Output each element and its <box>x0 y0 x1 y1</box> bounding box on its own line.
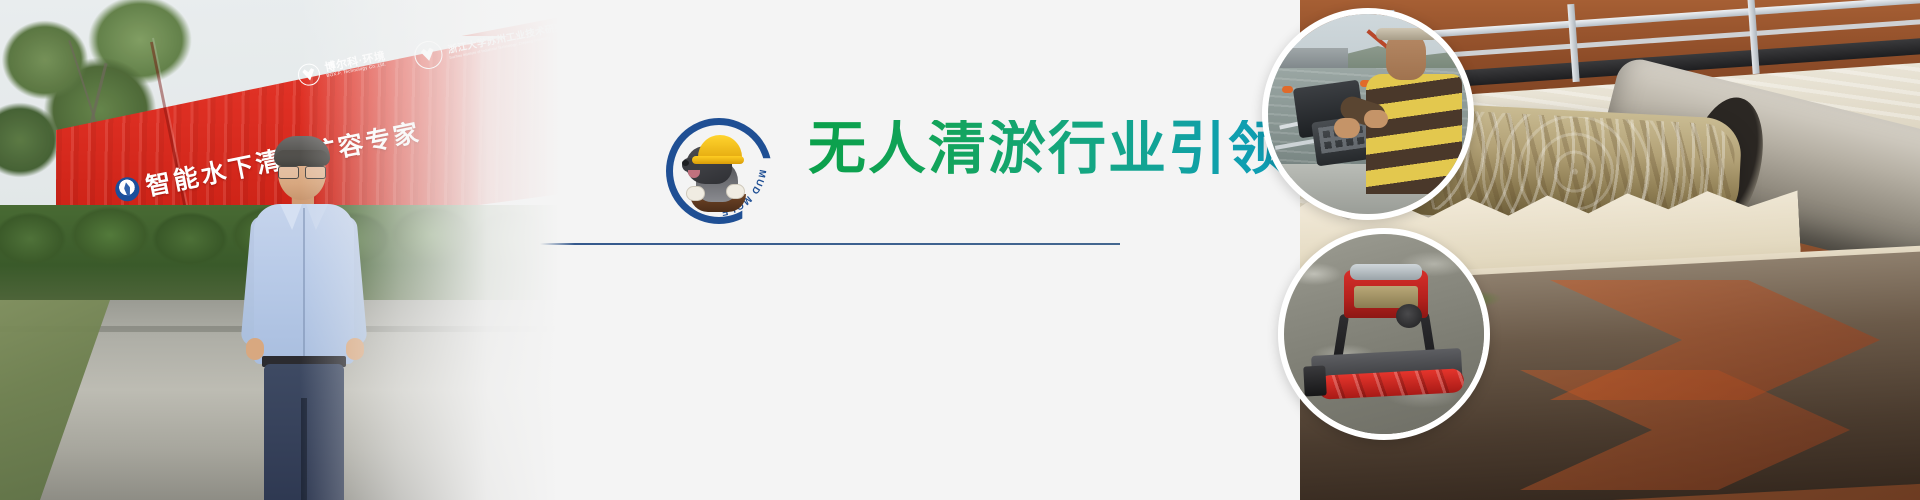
operator-hand-right <box>1364 110 1388 128</box>
plant-building <box>1272 48 1348 70</box>
sun-hat-icon <box>1376 28 1438 40</box>
person-left-hand <box>246 338 264 360</box>
mole-paw-left <box>686 186 705 201</box>
operator-torso <box>1366 74 1462 194</box>
slogan-badge-icon <box>113 175 141 203</box>
hero-banner: 博尔科·环境 BOX.P. Technology Co.,Ltd. 浙江大学苏州… <box>0 0 1920 500</box>
circle-photo-operator <box>1262 8 1474 220</box>
mole-mascot-icon <box>682 130 748 202</box>
robot-canopy <box>1350 264 1422 280</box>
title-divider <box>540 243 1120 245</box>
center-content: MUD MOLE 无人清淤行业引领者 <box>560 0 1260 500</box>
left-hero-photo: 博尔科·环境 BOX.P. Technology Co.,Ltd. 浙江大学苏州… <box>0 0 560 500</box>
robot-wheel <box>1396 304 1422 328</box>
operator-hand-left <box>1334 118 1360 138</box>
mole-nose <box>682 160 689 166</box>
hard-hat-brim <box>692 156 744 164</box>
mud-mole-logo: MUD MOLE <box>660 110 770 220</box>
circle-photo-dredging-robot <box>1278 228 1490 440</box>
mole-paw-right <box>726 184 745 199</box>
auger-end-bearing <box>1303 365 1327 396</box>
marker-float <box>1282 86 1293 93</box>
left-photo-fade <box>300 0 560 500</box>
